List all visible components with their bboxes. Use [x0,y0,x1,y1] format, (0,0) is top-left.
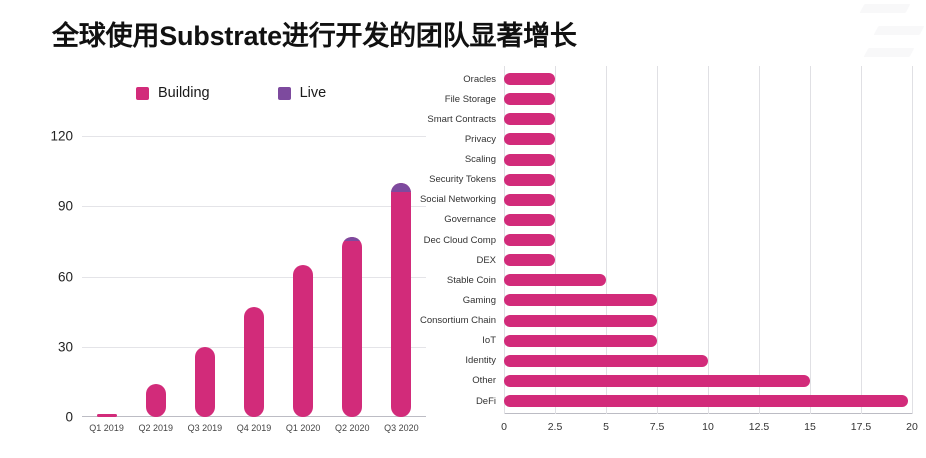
bar-segment-live [342,237,362,242]
category-label: Stable Coin [447,275,496,286]
category-label: Scaling [465,154,496,165]
plot-area-vertical: 0306090120Q1 2019Q2 2019Q3 2019Q4 2019Q1… [82,122,426,417]
bar-governance[interactable] [504,214,555,226]
bar-q2-2020[interactable] [342,237,362,417]
bar-row: DEX [504,250,912,270]
bar-slot: Q4 2019 [229,122,278,417]
chart-teams-growth-by-quarter: 0306090120Q1 2019Q2 2019Q3 2019Q4 2019Q1… [46,110,436,435]
x-axis-tick-label: Q2 2020 [335,423,370,433]
bar-row: Other [504,371,912,391]
x-axis-tick-label: 15 [804,421,816,433]
bar-scaling[interactable] [504,154,555,166]
bar-q3-2020[interactable] [391,183,411,417]
category-label: Gaming [463,295,496,306]
x-axis-tick-label: 0 [501,421,507,433]
category-label: DeFi [476,396,496,407]
bar-row: Privacy [504,129,912,149]
category-label: Security Tokens [429,174,496,185]
bar-stable-coin[interactable] [504,274,606,286]
y-axis-tick-label: 30 [58,339,73,354]
legend-item-live: Live [278,85,327,101]
x-axis-tick-label: 10 [702,421,714,433]
watermark-logo [836,0,926,70]
bar-slot: Q2 2020 [328,122,377,417]
category-label: IoT [482,335,496,346]
bar-other[interactable] [504,375,810,387]
y-axis-tick-label: 120 [50,129,73,144]
bar-privacy[interactable] [504,133,555,145]
bar-slot: Q2 2019 [131,122,180,417]
x-axis-tick-label: 5 [603,421,609,433]
gridline-x-20 [912,66,913,414]
x-axis-tick-label: Q1 2019 [89,423,124,433]
x-axis-tick-label: 7.5 [650,421,665,433]
bar-dec-cloud-comp[interactable] [504,234,555,246]
x-axis-tick-label: 17.5 [851,421,871,433]
category-label: Governance [444,214,496,225]
bar-identity[interactable] [504,355,708,367]
bar-slot: Q3 2019 [180,122,229,417]
vertical-bars-group: Q1 2019Q2 2019Q3 2019Q4 2019Q1 2020Q2 20… [82,122,426,417]
bar-row: DeFi [504,391,912,411]
category-label: Consortium Chain [420,315,496,326]
x-axis-tick-label: 20 [906,421,918,433]
bar-slot: Q1 2020 [279,122,328,417]
horizontal-bars-group: OraclesFile StorageSmart ContractsPrivac… [504,66,912,414]
category-label: Privacy [465,134,496,145]
chart-legend: Building Live [136,85,326,101]
page-title: 全球使用Substrate进行开发的团队显著增长 [52,14,577,53]
x-axis-tick-label: Q3 2019 [188,423,223,433]
bar-row: File Storage [504,89,912,109]
bar-row: Gaming [504,290,912,310]
legend-label-live: Live [300,85,327,101]
bar-row: Identity [504,351,912,371]
bar-defi[interactable] [504,395,908,407]
bar-dex[interactable] [504,254,555,266]
bar-row: Dec Cloud Comp [504,230,912,250]
square-swatch-icon [136,87,149,100]
bar-row: Consortium Chain [504,311,912,331]
bar-slot: Q1 2019 [82,122,131,417]
bar-consortium-chain[interactable] [504,315,657,327]
legend-item-building: Building [136,85,210,101]
bar-file-storage[interactable] [504,93,555,105]
chart-projects-by-category: 02.557.51012.51517.520OraclesFile Storag… [420,62,920,447]
bar-q1-2019[interactable] [97,414,117,417]
category-label: File Storage [445,94,496,105]
square-swatch-icon [278,87,291,100]
y-axis-tick-label: 90 [58,199,73,214]
bar-q3-2019[interactable] [195,347,215,417]
bar-security-tokens[interactable] [504,174,555,186]
bar-q1-2020[interactable] [293,265,313,417]
bar-row: Security Tokens [504,170,912,190]
category-label: Identity [465,355,496,366]
bar-row: Social Networking [504,190,912,210]
category-label: Other [472,375,496,386]
bar-social-networking[interactable] [504,194,555,206]
bar-row: IoT [504,331,912,351]
bar-row: Oracles [504,69,912,89]
plot-area-horizontal: 02.557.51012.51517.520OraclesFile Storag… [504,66,912,414]
bar-gaming[interactable] [504,294,657,306]
bar-oracles[interactable] [504,73,555,85]
x-axis-tick-label: 12.5 [749,421,769,433]
bar-segment-live [391,183,411,192]
bar-smart-contracts[interactable] [504,113,555,125]
bar-slot: Q3 2020 [377,122,426,417]
x-axis-tick-label: Q3 2020 [384,423,419,433]
category-label: DEX [476,255,496,266]
x-axis-tick-label: Q1 2020 [286,423,321,433]
bar-q4-2019[interactable] [244,307,264,417]
y-axis-tick-label: 0 [65,410,73,425]
legend-label-building: Building [158,85,210,101]
bar-row: Stable Coin [504,270,912,290]
category-label: Smart Contracts [427,114,496,125]
category-label: Oracles [463,74,496,85]
x-axis-tick-label: Q2 2019 [138,423,173,433]
bar-iot[interactable] [504,335,657,347]
bar-row: Scaling [504,150,912,170]
bar-q2-2019[interactable] [146,384,166,417]
x-axis-tick-label: 2.5 [548,421,563,433]
bar-row: Governance [504,210,912,230]
x-axis-tick-label: Q4 2019 [237,423,272,433]
y-axis-tick-label: 60 [58,269,73,284]
bar-row: Smart Contracts [504,109,912,129]
category-label: Social Networking [420,194,496,205]
slide-canvas: 全球使用Substrate进行开发的团队显著增长 Building Live 0… [0,0,926,458]
category-label: Dec Cloud Comp [424,235,496,246]
